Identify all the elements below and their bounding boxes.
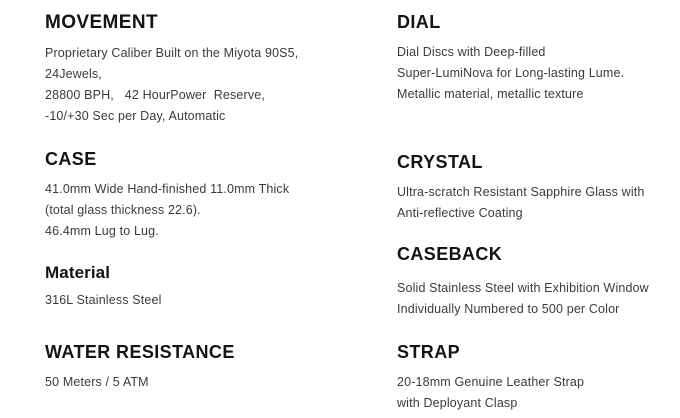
spec-section-material: Material 316L Stainless Steel xyxy=(45,264,348,311)
spec-line: Individually Numbered to 500 per Color xyxy=(397,299,676,320)
spec-line: (total glass thickness 22.6). xyxy=(45,200,348,221)
spec-section-caseback: CASEBACK Solid Stainless Steel with Exhi… xyxy=(397,245,676,320)
spec-section-movement: MOVEMENT Proprietary Caliber Built on th… xyxy=(45,13,348,127)
spec-line: Dial Discs with Deep-filled xyxy=(397,42,676,63)
spec-line: 24Jewels, xyxy=(45,64,348,85)
spec-body-crystal: Ultra-scratch Resistant Sapphire Glass w… xyxy=(397,182,676,224)
spec-line: 20-18mm Genuine Leather Strap xyxy=(397,372,676,393)
spec-heading-caseback: CASEBACK xyxy=(397,245,676,264)
spec-body-movement: Proprietary Caliber Built on the Miyota … xyxy=(45,43,348,127)
spec-heading-water-resistance: WATER RESISTANCE xyxy=(45,343,348,362)
spec-heading-crystal: CRYSTAL xyxy=(397,153,676,172)
spec-line: Solid Stainless Steel with Exhibition Wi… xyxy=(397,278,676,299)
spec-heading-material: Material xyxy=(45,264,348,282)
spec-body-caseback: Solid Stainless Steel with Exhibition Wi… xyxy=(397,278,676,320)
spec-column-left: MOVEMENT Proprietary Caliber Built on th… xyxy=(0,0,352,418)
spec-line: Anti-reflective Coating xyxy=(397,203,676,224)
spec-heading-dial: DIAL xyxy=(397,13,676,32)
spec-section-crystal: CRYSTAL Ultra-scratch Resistant Sapphire… xyxy=(397,153,676,224)
spec-heading-case: CASE xyxy=(45,150,348,169)
spec-section-case: CASE 41.0mm Wide Hand-finished 11.0mm Th… xyxy=(45,150,348,242)
spec-body-material: 316L Stainless Steel xyxy=(45,290,348,311)
specification-sheet: MOVEMENT Proprietary Caliber Built on th… xyxy=(0,0,680,418)
spec-body-dial: Dial Discs with Deep-filled Super-LumiNo… xyxy=(397,42,676,105)
spec-line: -10/+30 Sec per Day, Automatic xyxy=(45,106,348,127)
spec-line: 50 Meters / 5 ATM xyxy=(45,372,348,393)
spec-body-strap: 20-18mm Genuine Leather Strap with Deplo… xyxy=(397,372,676,414)
spec-column-right: DIAL Dial Discs with Deep-filled Super-L… xyxy=(352,0,680,418)
spec-heading-movement: MOVEMENT xyxy=(45,13,348,33)
spec-line: 41.0mm Wide Hand-finished 11.0mm Thick xyxy=(45,179,348,200)
spec-line: Metallic material, metallic texture xyxy=(397,84,676,105)
spec-line: 28800 BPH, 42 HourPower Reserve, xyxy=(45,85,348,106)
spec-line: Super-LumiNova for Long-lasting Lume. xyxy=(397,63,676,84)
spec-section-strap: STRAP 20-18mm Genuine Leather Strap with… xyxy=(397,343,676,414)
spec-line: 316L Stainless Steel xyxy=(45,290,348,311)
spec-line: with Deployant Clasp xyxy=(397,393,676,414)
spec-line: Ultra-scratch Resistant Sapphire Glass w… xyxy=(397,182,676,203)
spec-section-water-resistance: WATER RESISTANCE 50 Meters / 5 ATM xyxy=(45,343,348,393)
spec-line: 46.4mm Lug to Lug. xyxy=(45,221,348,242)
spec-section-dial: DIAL Dial Discs with Deep-filled Super-L… xyxy=(397,13,676,105)
spec-heading-strap: STRAP xyxy=(397,343,676,362)
spec-body-case: 41.0mm Wide Hand-finished 11.0mm Thick (… xyxy=(45,179,348,242)
spec-line: Proprietary Caliber Built on the Miyota … xyxy=(45,43,348,64)
spec-body-water-resistance: 50 Meters / 5 ATM xyxy=(45,372,348,393)
